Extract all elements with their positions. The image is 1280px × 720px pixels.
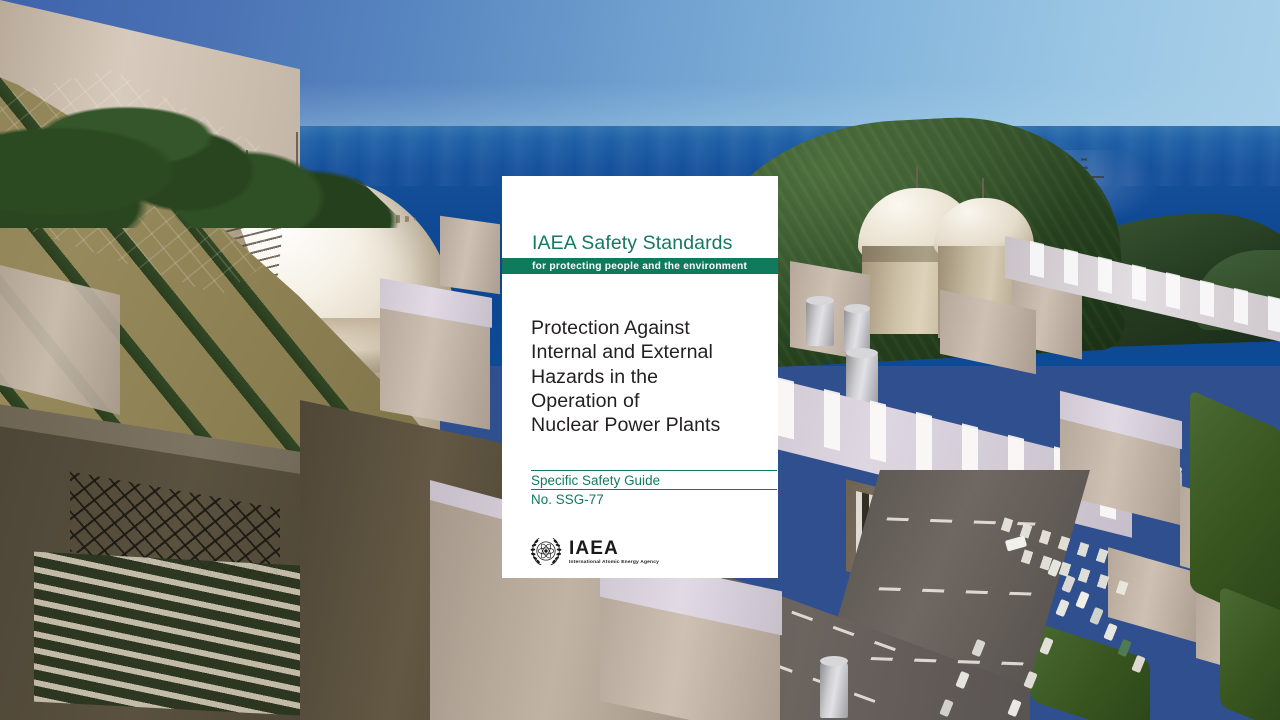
iaea-logo-text: IAEA International Atomic Energy Agency: [569, 539, 659, 566]
parked-car: [1055, 599, 1069, 617]
parked-car: [1089, 607, 1103, 625]
storage-tank: [806, 300, 834, 346]
vegetation-strip: [1220, 586, 1280, 720]
storage-tank: [820, 662, 848, 718]
iaea-wordmark: IAEA: [569, 539, 659, 558]
brand-tagline-text: for protecting people and the environmen…: [532, 261, 747, 272]
series-rule-top: [531, 470, 777, 471]
iaea-safety-standards-heading: IAEA Safety Standards: [532, 232, 732, 255]
parked-car: [1075, 591, 1089, 609]
iaea-full-name: International Atomic Energy Agency: [569, 559, 659, 566]
storage-tank-top: [846, 348, 878, 358]
series-rule-bottom: [531, 489, 777, 490]
series-label: Specific Safety Guide: [531, 473, 660, 488]
screenshot-root: IAEA Safety Standards for protecting peo…: [0, 0, 1280, 720]
brand-tagline-bar: for protecting people and the environmen…: [502, 258, 778, 274]
parked-car: [1103, 623, 1117, 641]
storage-tank: [844, 308, 870, 352]
storage-tank-top: [844, 304, 870, 313]
storage-tank-top: [820, 656, 848, 666]
iaea-logo: IAEA International Atomic Energy Agency: [529, 534, 659, 568]
publication-cover-panel: IAEA Safety Standards for protecting peo…: [502, 176, 778, 578]
storage-tank-top: [806, 296, 834, 305]
small-building: [440, 216, 500, 294]
parked-car: [1061, 575, 1075, 593]
publication-title: Protection Against Internal and External…: [531, 316, 761, 437]
iaea-emblem-icon: [529, 534, 563, 568]
series-number: No. SSG-77: [531, 492, 604, 507]
